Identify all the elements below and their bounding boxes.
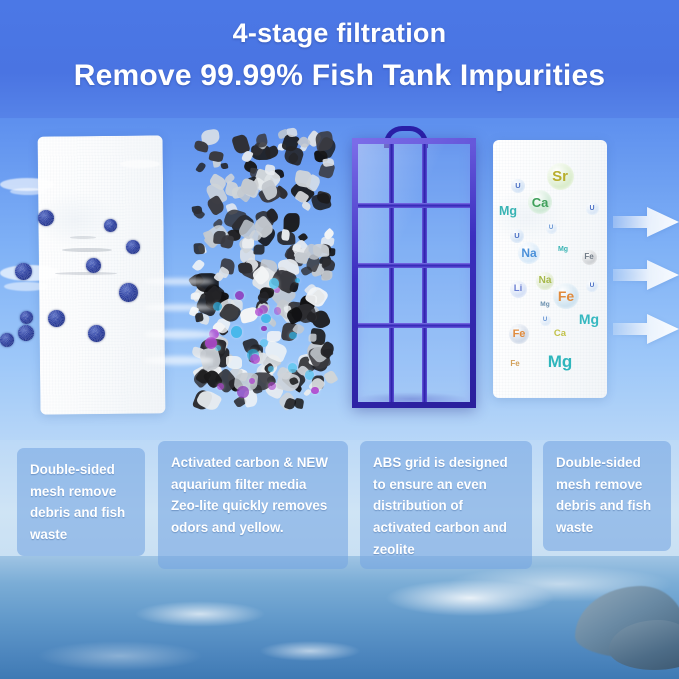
debris-speck (62, 248, 112, 252)
mineral-bubble-u: U (586, 280, 598, 292)
impurity-particle (0, 333, 14, 347)
impurity-accent-dot (289, 332, 297, 340)
mineral-bubble-mg: Mg (557, 243, 570, 256)
filter-granule (264, 164, 275, 175)
impurity-accent-dot (237, 386, 248, 397)
caption-box-stage-1: Double-sided mesh remove debris and fish… (17, 448, 145, 556)
filter-granule (193, 208, 206, 221)
impurity-accent-dot (250, 354, 260, 364)
impurity-accent-dot (261, 314, 271, 324)
impurity-particle (119, 283, 138, 302)
impurity-accent-dot (269, 278, 279, 288)
mineral-bubble-li: Li (510, 281, 527, 298)
grid-horizontal-bar (358, 203, 470, 208)
mineral-bubble-u: U (511, 179, 525, 193)
mineral-bubble-u: U (510, 229, 524, 243)
mineral-bubble-ca: Ca (552, 326, 569, 343)
caption-text: Double-sided mesh remove debris and fish… (30, 462, 125, 542)
impurity-particle (18, 325, 34, 341)
filter-granule (191, 293, 200, 300)
mineral-bubble-mg: Mg (539, 299, 551, 311)
impurity-accent-dot (205, 337, 217, 349)
impurity-particle (48, 310, 65, 327)
filter-granule (237, 262, 253, 274)
caption-box-stage-2: Activated carbon & NEW aquarium filter m… (158, 441, 348, 569)
filter-granule (301, 200, 313, 211)
mineral-bubble-fe: Fe (509, 324, 529, 344)
grid-vertical-bar (422, 144, 427, 402)
mineral-bubble-u: U (540, 315, 551, 326)
filter-granule (193, 243, 205, 255)
water-splash (4, 282, 48, 291)
caption-text: Double-sided mesh remove debris and fish… (556, 455, 651, 535)
impurity-accent-dot (261, 326, 266, 331)
water-flow-arrow (613, 205, 679, 239)
impurity-accent-dot (260, 339, 268, 347)
water-streak (144, 330, 214, 339)
mineral-bubble-sr: Sr (547, 163, 574, 190)
infographic-canvas: 4-stage filtration Remove 99.99% Fish Ta… (0, 0, 679, 679)
water-streak (144, 304, 214, 311)
filter-granule (323, 348, 334, 357)
mineral-bubble-na: Na (518, 242, 540, 264)
title-line-2: Remove 99.99% Fish Tank Impurities (0, 59, 679, 93)
filter-granule (322, 157, 334, 167)
filter-granule (324, 369, 339, 385)
impurity-particle (126, 240, 140, 254)
stage-3-abs-grid (352, 138, 476, 408)
impurity-particle (86, 258, 101, 273)
caption-text: Activated carbon & NEW aquarium filter m… (171, 455, 328, 535)
impurity-accent-dot (305, 370, 315, 380)
impurity-accent-dot (295, 278, 300, 283)
impurity-accent-dot (217, 383, 224, 390)
impurity-particle (15, 263, 32, 280)
stage-2-carbon-zeolite (190, 126, 338, 412)
water-flow-arrow (613, 312, 679, 346)
mineral-bubble-fe: Fe (582, 250, 597, 265)
impurity-particle (88, 325, 105, 342)
page-title: 4-stage filtration Remove 99.99% Fish Ta… (0, 18, 679, 93)
filter-granule (220, 233, 235, 249)
grid-horizontal-bar (358, 323, 470, 328)
mineral-bubble-fe: Fe (553, 283, 579, 309)
mineral-bubble-u: U (546, 223, 557, 234)
impurity-accent-dot (235, 291, 244, 300)
grid-vertical-bar (389, 144, 394, 402)
impurity-accent-dot (231, 326, 242, 337)
water-flow-arrow (613, 258, 679, 292)
filter-granule (226, 356, 242, 369)
filter-granule (281, 229, 290, 241)
mineral-bubble-fe: Fe (508, 357, 522, 371)
water-surface-photo (0, 556, 679, 679)
mineral-bubble-mg: Mg (546, 347, 574, 375)
impurity-particle (104, 219, 117, 232)
filter-granule (195, 161, 206, 173)
caption-box-stage-3: ABS grid is designed to ensure an even d… (360, 441, 532, 569)
water-splash (10, 188, 46, 195)
impurity-accent-dot (288, 363, 297, 372)
grid-highlight (358, 144, 470, 402)
water-splash (120, 160, 160, 168)
impurity-accent-dot (274, 307, 281, 314)
caption-text: ABS grid is designed to ensure an even d… (373, 455, 508, 557)
mineral-bubble-mg: Mg (577, 307, 601, 331)
impurity-accent-dot (249, 378, 255, 384)
filter-granule (192, 259, 205, 273)
grid-horizontal-bar (358, 263, 470, 268)
mineral-bubble-na: Na (536, 272, 554, 290)
mineral-bubble-mg: Mg (497, 200, 519, 222)
impurity-particle (38, 210, 54, 226)
filter-granule (208, 150, 224, 163)
impurity-accent-dot (268, 382, 276, 390)
filter-granule (220, 162, 228, 169)
filter-granule (253, 245, 264, 255)
filter-granule (308, 334, 316, 342)
mineral-bubble-u: U (586, 202, 599, 215)
title-line-1: 4-stage filtration (0, 18, 679, 49)
debris-speck (55, 272, 117, 275)
caption-box-stage-4: Double-sided mesh remove debris and fish… (543, 441, 671, 551)
debris-speck (70, 236, 96, 239)
impurity-particle (20, 311, 33, 324)
impurity-accent-dot (268, 366, 273, 371)
mineral-bubble-ca: Ca (528, 190, 552, 214)
impurity-accent-dot (311, 387, 318, 394)
